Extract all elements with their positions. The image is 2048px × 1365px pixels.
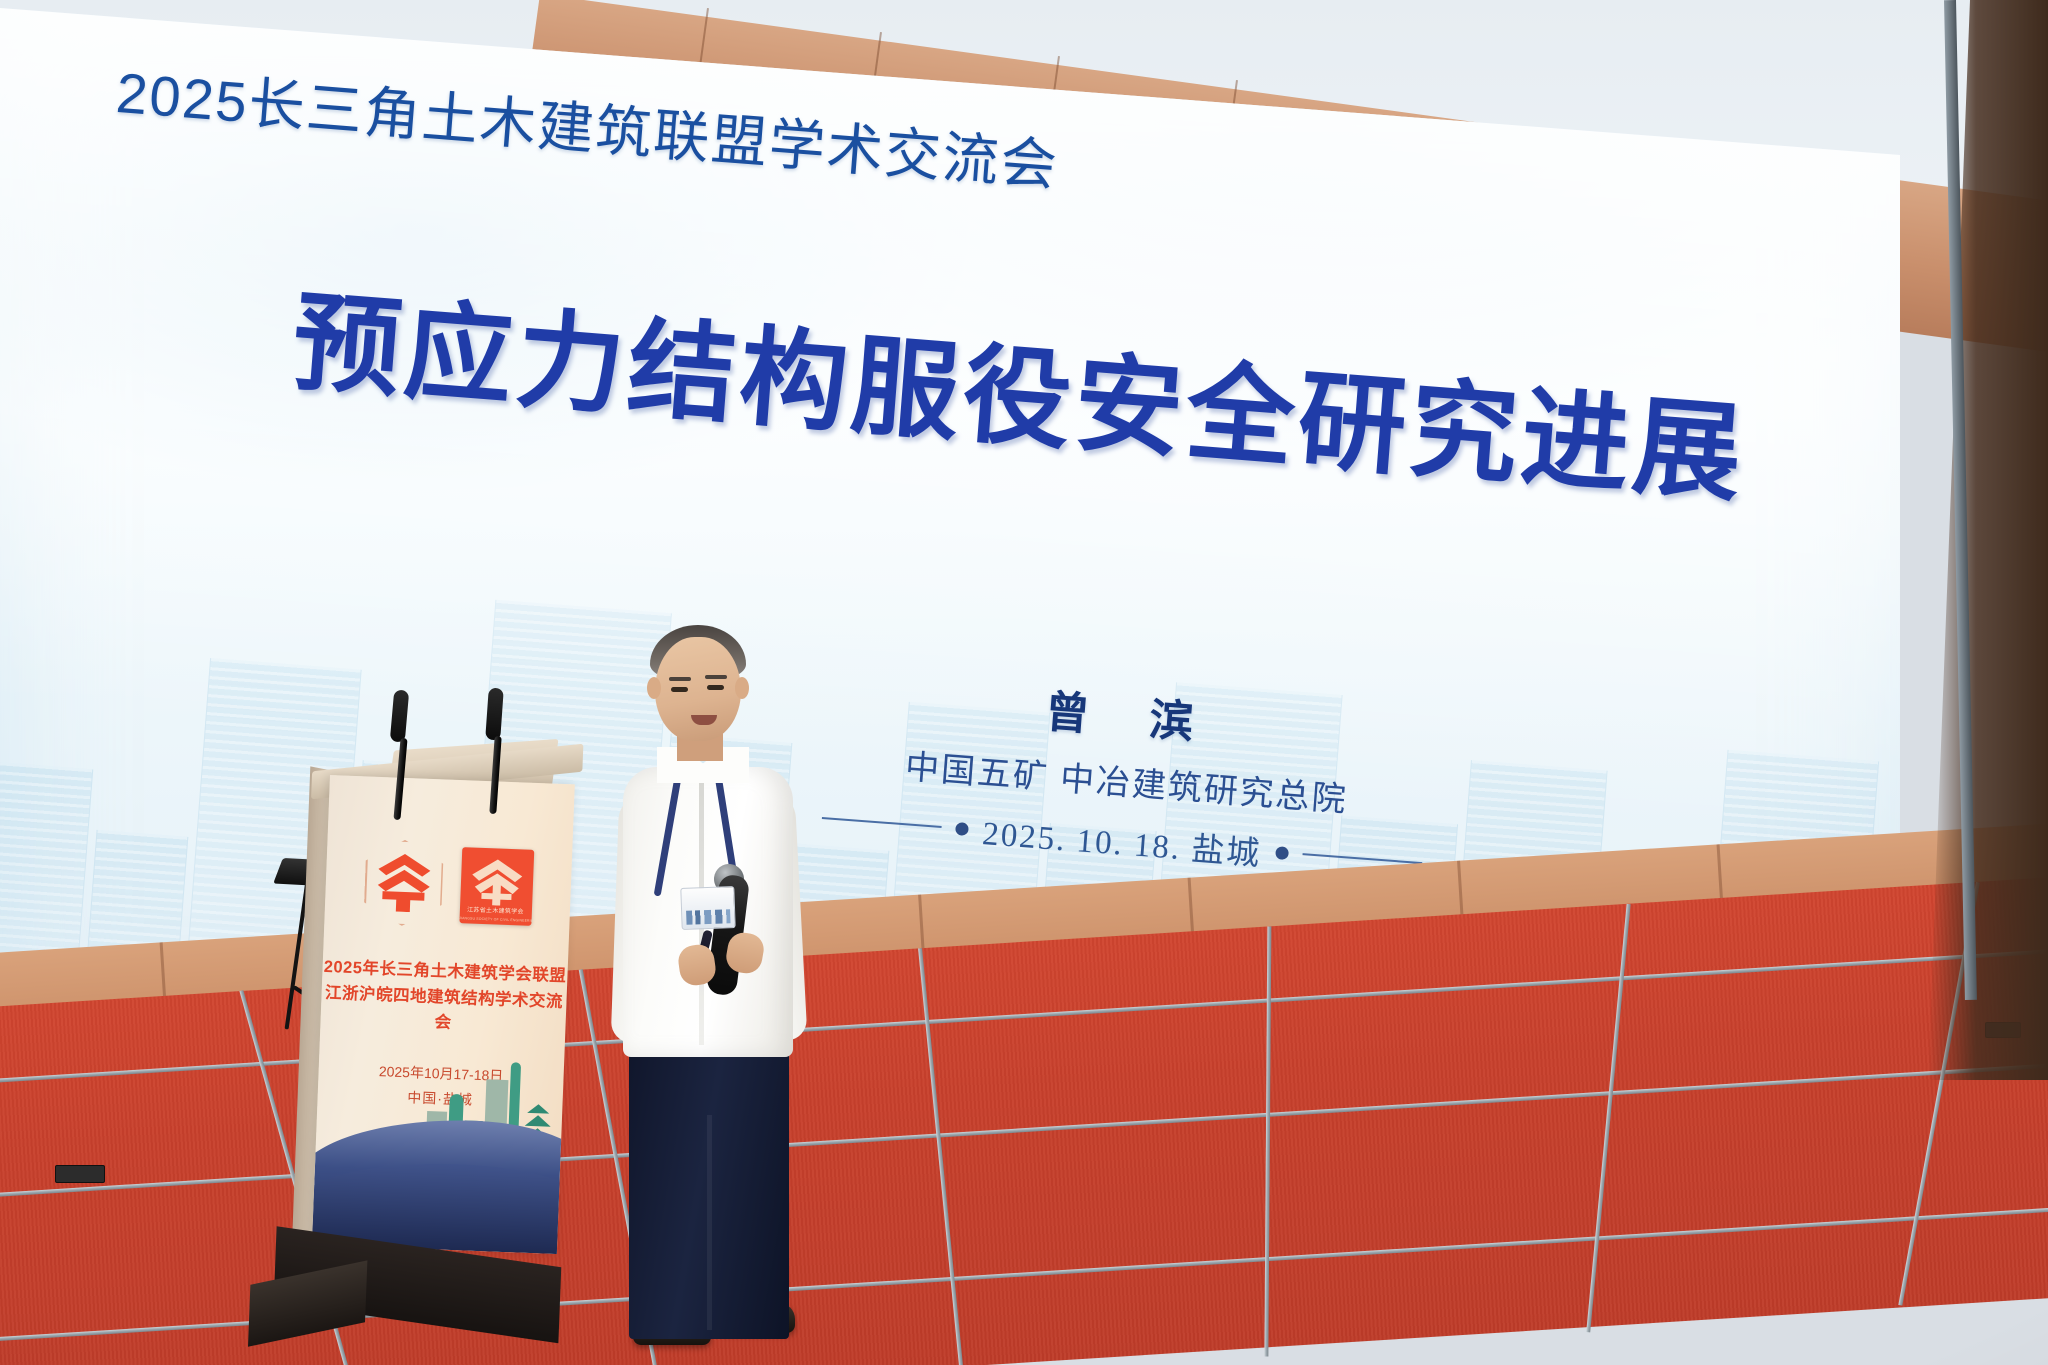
conference-stage-photo: 2025长三角土木建筑联盟学术交流会 预应力结构服役安全研究进展 曾 滨 中国五… [0, 0, 2048, 1365]
projection-screen: 2025长三角土木建筑联盟学术交流会 预应力结构服役安全研究进展 曾 滨 中国五… [0, 0, 1900, 1060]
head [655, 637, 741, 741]
jiangsu-civil-architecture-society-logo-icon: 江苏省土木建筑学会 JIANGSU SOCIETY OF CIVIL ENGIN… [459, 847, 534, 926]
dateline-rule-right [1302, 853, 1422, 864]
presenter-standing [595, 615, 825, 1355]
dateline-dot-left [955, 822, 969, 836]
podium-logo-row: 江苏省土木建筑学会 JIANGSU SOCIETY OF CIVIL ENGIN… [324, 837, 572, 932]
slide-text-layer: 2025长三角土木建筑联盟学术交流会 预应力结构服役安全研究进展 曾 滨 中国五… [0, 0, 1900, 1060]
podium-city-illustration [312, 1030, 565, 1254]
podium: 江苏省土木建筑学会 JIANGSU SOCIETY OF CIVIL ENGIN… [309, 775, 595, 1325]
dateline-dot-right [1275, 846, 1289, 860]
podium-base-foot [248, 1260, 367, 1346]
podium-front-banner: 江苏省土木建筑学会 JIANGSU SOCIETY OF CIVIL ENGIN… [312, 775, 575, 1254]
slide-byline-block: 曾 滨 中国五矿 中冶建筑研究总院 2025. 10. 18. 盐城 [761, 655, 1493, 891]
dateline-text: 2025. 10. 18. 盐城 [981, 806, 1263, 875]
dateline-rule-left [822, 817, 942, 828]
tjian-hexagon-logo-icon [363, 838, 444, 927]
podium-banner-title: 2025年长三角土木建筑学会联盟 江浙沪皖四地建筑结构学术交流会 [320, 955, 568, 1041]
slide-headline: 预应力结构服役安全研究进展 [288, 255, 1752, 524]
floor-socket-box [55, 1165, 105, 1183]
conference-name-badge [680, 886, 735, 930]
society-logo-caption-en: JIANGSU SOCIETY OF CIVIL ENGINEERING & A… [459, 916, 531, 923]
society-logo-caption: 江苏省土木建筑学会 [459, 904, 531, 916]
